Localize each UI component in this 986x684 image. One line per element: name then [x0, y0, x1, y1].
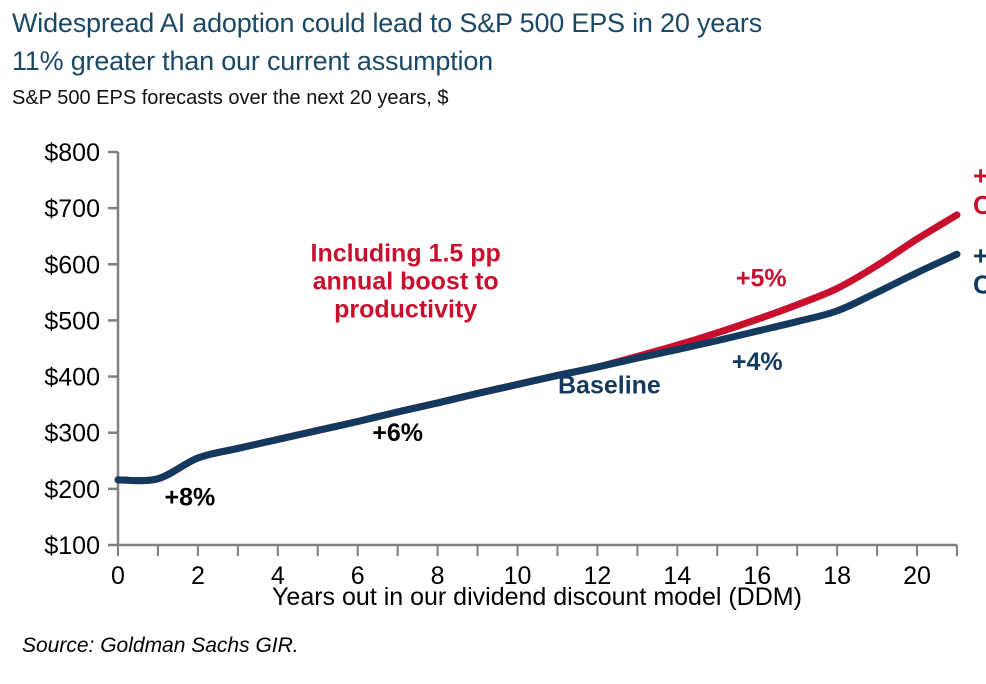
annotation-productivity-note-line1: Including 1.5 pp	[311, 239, 501, 267]
plot-area: $100$200$300$400$500$600$700$800 0246810…	[0, 128, 986, 628]
annotation-baseline-label: Baseline	[558, 371, 661, 399]
series-line-ai-productivity	[118, 215, 957, 481]
line-chart-svg: $100$200$300$400$500$600$700$800 0246810…	[0, 128, 986, 628]
annotation-cagr-navy-line2: CAGR	[973, 269, 986, 299]
annotation-growth-5pct: +5%	[736, 265, 787, 293]
y-tick-label: $600	[44, 251, 100, 279]
y-tick-label: $800	[44, 139, 100, 167]
chart-title-line-1: Widespread AI adoption could lead to S&P…	[12, 4, 972, 42]
y-tick-label: $200	[44, 476, 100, 504]
annotation-growth-6pct: +6%	[372, 419, 423, 447]
annotation-growth-8pct: +8%	[165, 484, 216, 512]
y-tick-label: $400	[44, 364, 100, 392]
y-axis-tick-labels: $100$200$300$400$500$600$700$800	[44, 139, 100, 560]
x-tick-label: 18	[823, 562, 851, 590]
source-note: Source: Goldman Sachs GIR.	[22, 634, 299, 658]
annotation-cagr-red-line1: +5.4%	[973, 161, 986, 191]
annotation-cagr-red-line2: CAGR	[973, 190, 986, 220]
chart-header: Widespread AI adoption could lead to S&P…	[12, 4, 972, 112]
y-tick-label: $100	[44, 532, 100, 560]
x-tick-label: 0	[111, 562, 125, 590]
chart-annotations: +8%+6%+4%+5%BaselineIncluding 1.5 ppannu…	[165, 161, 986, 512]
annotation-cagr-navy-line1: +4.9%	[973, 240, 986, 270]
y-tick-label: $500	[44, 307, 100, 335]
annotation-productivity-note-line2: annual boost to	[313, 268, 499, 296]
y-tick-label: $700	[44, 195, 100, 223]
y-tick-label: $300	[44, 420, 100, 448]
chart-title-line-2: 11% greater than our current assumption	[12, 42, 972, 80]
x-axis-ticks	[118, 545, 957, 556]
annotation-growth-4pct: +4%	[732, 348, 783, 376]
x-tick-label: 20	[903, 562, 931, 590]
chart-subtitle: S&P 500 EPS forecasts over the next 20 y…	[12, 84, 972, 112]
y-axis-ticks	[108, 152, 118, 545]
x-tick-label: 2	[191, 562, 205, 590]
chart-page: Widespread AI adoption could lead to S&P…	[0, 0, 986, 684]
annotation-productivity-note-line3: productivity	[334, 296, 477, 324]
x-axis-title: Years out in our dividend discount model…	[272, 583, 802, 611]
